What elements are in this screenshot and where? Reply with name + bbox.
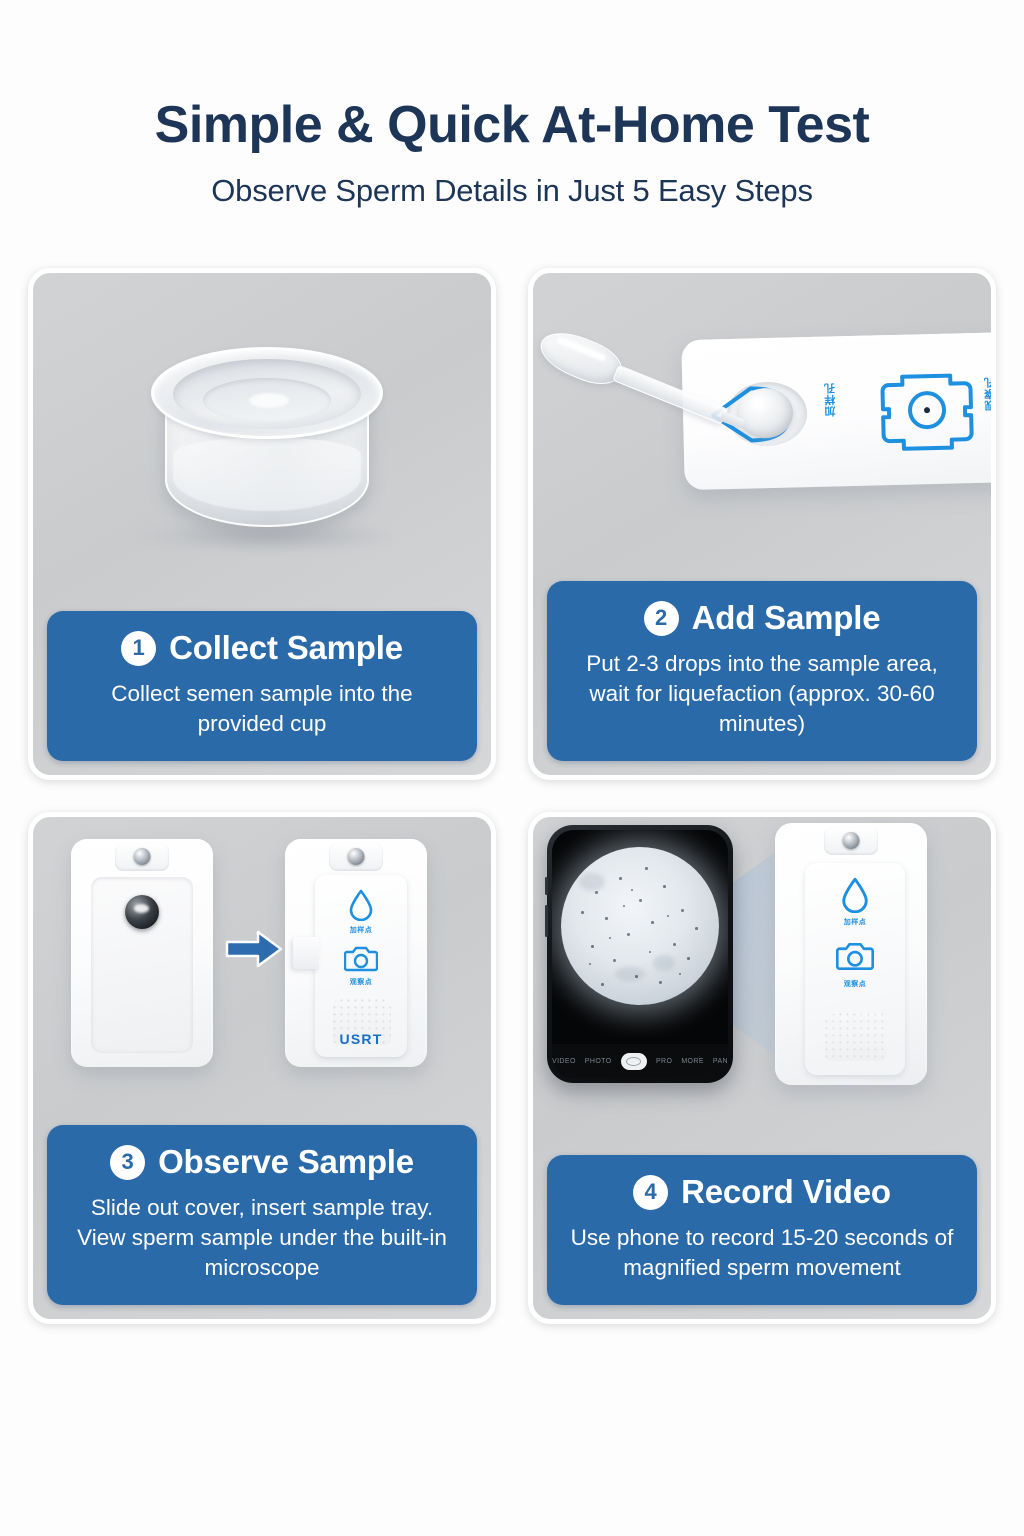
header: Simple & Quick At-Home Test Observe Sper…	[0, 0, 1024, 209]
lens-icon	[134, 848, 151, 865]
camera-mode[interactable]: PAN	[713, 1058, 728, 1065]
lens-icon	[348, 848, 365, 865]
infographic-page: Simple & Quick At-Home Test Observe Sper…	[0, 0, 1024, 1536]
brand-logo: USRT	[340, 1031, 383, 1047]
droplet-icon	[348, 889, 374, 921]
step-card-2[interactable]: 加样孔 观察孔 2 Add Sample Put 2-3 drops into …	[528, 268, 996, 780]
smartphone[interactable]: VIDEO PHOTO PRO MORE PAN	[547, 825, 733, 1083]
step-card-4[interactable]: 加样点 观察点	[528, 812, 996, 1324]
step-description: Slide out cover, insert sample tray. Vie…	[63, 1193, 461, 1283]
step-title: Collect Sample	[169, 629, 403, 667]
microscope-knob-icon	[125, 895, 159, 929]
lens-icon	[843, 832, 860, 849]
step-description: Use phone to record 15-20 seconds of mag…	[563, 1223, 961, 1283]
sperm-specks	[561, 847, 719, 1005]
microscope-device: 加样点 观察点	[775, 823, 927, 1085]
camera-mode[interactable]: PHOTO	[585, 1058, 612, 1065]
phone-power-button[interactable]	[545, 905, 548, 937]
step-number-badge: 3	[110, 1145, 145, 1180]
droplet-icon	[840, 877, 870, 913]
step-card-1[interactable]: 1 Collect Sample Collect semen sample in…	[28, 268, 496, 780]
shutter-button[interactable]	[621, 1053, 647, 1070]
camera-mode[interactable]: PRO	[656, 1058, 672, 1065]
step-description: Collect semen sample into the provided c…	[63, 679, 461, 739]
step-title: Record Video	[681, 1173, 891, 1211]
page-title: Simple & Quick At-Home Test	[0, 98, 1024, 153]
step-1-caption: 1 Collect Sample Collect semen sample in…	[47, 611, 477, 761]
sample-point-label: 加样点	[350, 925, 373, 935]
observe-point-label: 观察点	[350, 977, 373, 987]
observe-point-label: 观察点	[844, 979, 867, 989]
sample-point-label: 加样点	[844, 917, 867, 927]
step-number-badge: 4	[633, 1175, 668, 1210]
step-2-caption: 2 Add Sample Put 2-3 drops into the samp…	[547, 581, 977, 761]
step-number-badge: 1	[121, 631, 156, 666]
phone-screen[interactable]: VIDEO PHOTO PRO MORE PAN	[552, 830, 728, 1078]
camera-icon	[836, 941, 874, 972]
tray-label-observe: 观察孔	[982, 376, 991, 411]
camera-mode[interactable]: VIDEO	[552, 1058, 576, 1065]
tray-label-sample: 加样孔	[822, 382, 839, 417]
step-4-caption: 4 Record Video Use phone to record 15-20…	[547, 1155, 977, 1305]
device-closed	[71, 839, 213, 1067]
step-number-badge: 2	[644, 601, 679, 636]
device-open-with-tray: 加样点 观察点 USRT	[285, 839, 427, 1067]
step-description: Put 2-3 drops into the sample area, wait…	[563, 649, 961, 739]
camera-icon	[344, 945, 378, 973]
page-subtitle: Observe Sperm Details in Just 5 Easy Ste…	[0, 173, 1024, 209]
arrow-right-icon	[225, 929, 283, 969]
step-3-caption: 3 Observe Sample Slide out cover, insert…	[47, 1125, 477, 1305]
slide-tray-tab	[293, 937, 319, 969]
step-title: Add Sample	[692, 599, 881, 637]
specimen-cup-icon	[151, 333, 383, 548]
camera-mode-bar[interactable]: VIDEO PHOTO PRO MORE PAN	[552, 1044, 728, 1078]
camera-window-outline-icon	[878, 365, 976, 455]
microscope-view	[561, 847, 719, 1005]
steps-grid: 1 Collect Sample Collect semen sample in…	[28, 268, 996, 1324]
camera-mode[interactable]: MORE	[681, 1058, 704, 1065]
step-card-3[interactable]: 加样点 观察点 USRT 3 Observe Sample	[28, 812, 496, 1324]
step-title: Observe Sample	[158, 1143, 414, 1181]
phone-volume-button[interactable]	[545, 877, 548, 895]
